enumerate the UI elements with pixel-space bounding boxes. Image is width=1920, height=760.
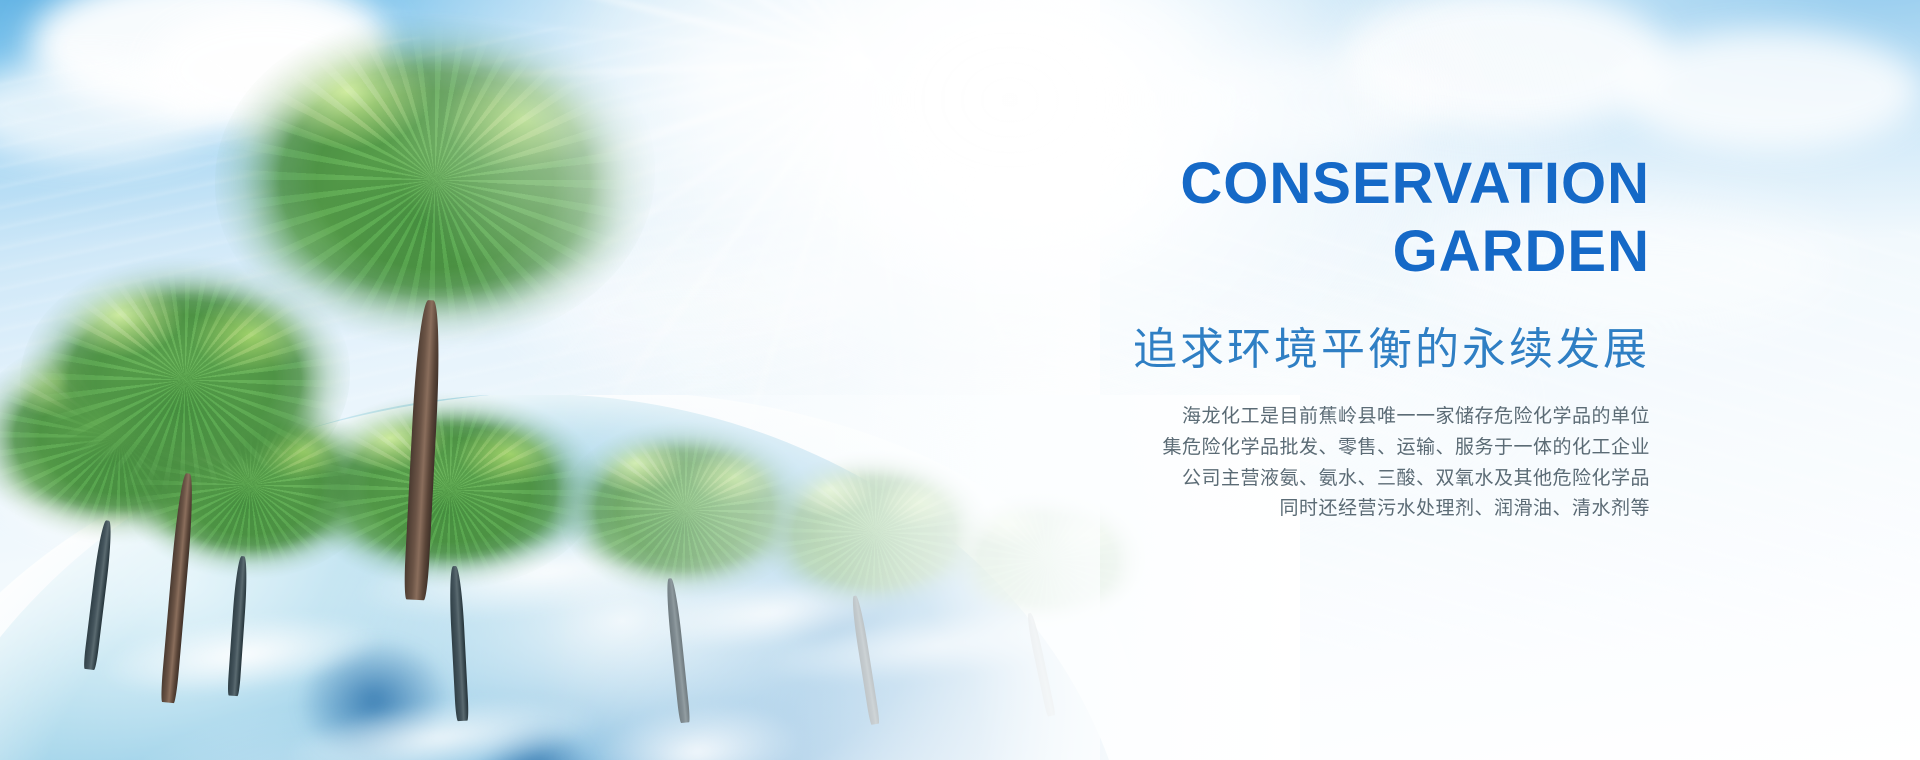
tree-canopy: [20, 255, 350, 505]
description-line: 同时还经营污水处理剂、润滑油、清水剂等: [1090, 494, 1650, 525]
tree-canopy: [760, 450, 990, 615]
description-line: 集危险化学品批发、零售、运输、服务于一体的化工企业: [1090, 433, 1650, 464]
description-line: 海龙化工是目前蕉岭县唯一一家储存危险化学品的单位: [1090, 402, 1650, 433]
headline-line-1: CONSERVATION: [1180, 151, 1650, 216]
description-line: 公司主营液氨、氨水、三酸、双氧水及其他危险化学品: [1090, 464, 1650, 495]
hero-copy: CONSERVATION GARDEN 追求环境平衡的永续发展 海龙化工是目前蕉…: [1090, 150, 1650, 525]
hero-banner: CONSERVATION GARDEN 追求环境平衡的永续发展 海龙化工是目前蕉…: [0, 0, 1920, 760]
tree-canopy: [300, 390, 600, 590]
subheadline: 追求环境平衡的永续发展: [1090, 321, 1650, 378]
page-title: CONSERVATION GARDEN: [1090, 150, 1650, 287]
description-list: 海龙化工是目前蕉岭县唯一一家储存危险化学品的单位 集危险化学品批发、零售、运输、…: [1090, 402, 1650, 525]
headline-line-2: GARDEN: [1090, 218, 1650, 286]
